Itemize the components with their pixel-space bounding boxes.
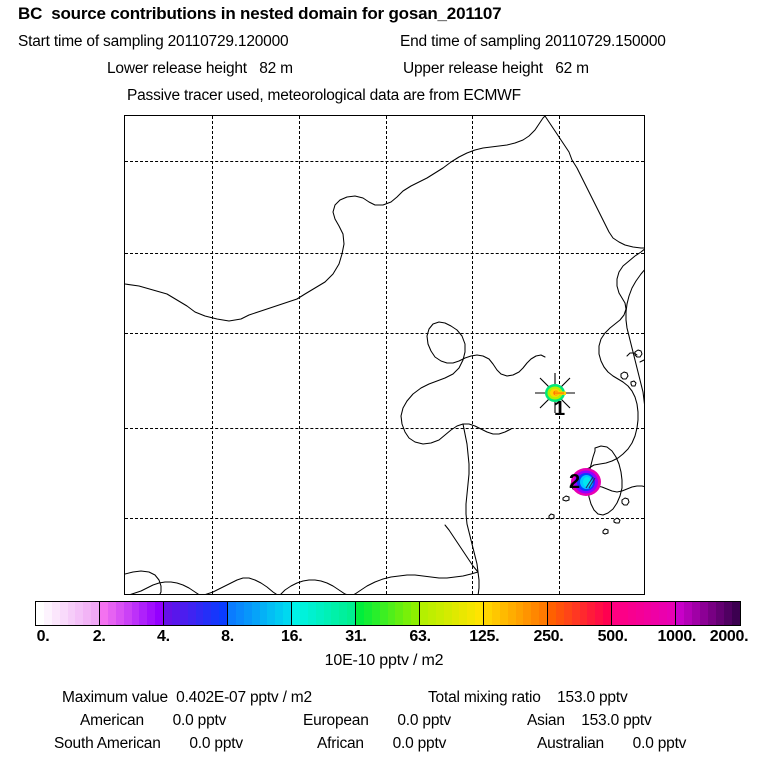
colorbar-step [603,602,611,625]
colorbar-step [531,602,539,625]
colorbar-step [180,602,188,625]
colorbar-tick-label: 2. [93,628,106,646]
colorbar-segment [228,602,292,625]
colorbar-segment [484,602,548,625]
colorbar-step [124,602,132,625]
upper-release-height-label: Upper release height 62 m [403,60,589,78]
colorbar-tick-label: 63. [409,628,430,646]
colorbar-step [452,602,460,625]
colorbar [35,601,741,626]
colorbar-step [428,602,436,625]
colorbar-step [395,602,403,625]
colorbar-segment [164,602,228,625]
colorbar-step [403,602,411,625]
colorbar-step [380,602,388,625]
colorbar-step [132,602,140,625]
colorbar-step [228,602,236,625]
colorbar-tick-label: 2000. [710,628,749,646]
colorbar-tick-label: 500. [598,628,628,646]
map-plot-area: 1 2 [124,115,645,595]
lower-release-height-label: Lower release height 82 m [107,60,293,78]
tracer-method-label: Passive tracer used, meteorological data… [127,87,521,105]
colorbar-tick-label: 250. [533,628,563,646]
colorbar-segment [292,602,356,625]
colorbar-step [636,602,644,625]
colorbar-step [52,602,60,625]
colorbar-step [275,602,283,625]
colorbar-step [436,602,444,625]
colorbar-step [324,602,332,625]
colorbar-step [716,602,724,625]
colorbar-step [700,602,708,625]
end-time-label: End time of sampling 20110729.150000 [400,33,666,51]
colorbar-step [211,602,219,625]
coastline-overlay [125,116,645,595]
colorbar-step [420,602,428,625]
colorbar-step [331,602,339,625]
colorbar-step [364,602,372,625]
colorbar-step [372,602,380,625]
colorbar-segment [36,602,100,625]
colorbar-step [356,602,364,625]
maximum-value-label: Maximum value 0.402E-07 pptv / m2 [62,689,312,707]
colorbar-step [388,602,396,625]
colorbar-step [116,602,124,625]
page-title: BC source contributions in nested domain… [18,4,501,24]
colorbar-step [572,602,580,625]
colorbar-step [548,602,556,625]
colorbar-step [523,602,531,625]
south-american-contribution: South American 0.0 pptv [54,735,243,753]
colorbar-step [724,602,732,625]
colorbar-step [75,602,83,625]
colorbar-step [411,602,419,625]
american-contribution: American 0.0 pptv [80,712,226,730]
colorbar-step [68,602,76,625]
colorbar-step [580,602,588,625]
flexpart-source-contribution-plot: BC source contributions in nested domain… [0,0,768,768]
colorbar-segment [676,602,740,625]
colorbar-step [155,602,163,625]
asian-contribution: Asian 153.0 pptv [527,712,652,730]
colorbar-step [147,602,155,625]
colorbar-step [252,602,260,625]
colorbar-step [659,602,667,625]
colorbar-tick-label: 0. [37,628,50,646]
colorbar-step [60,602,68,625]
plume-label-1: 1 [554,398,565,421]
colorbar-step [475,602,483,625]
colorbar-step [539,602,547,625]
colorbar-tick-label: 4. [157,628,170,646]
colorbar-step [300,602,308,625]
colorbar-step [267,602,275,625]
colorbar-step [628,602,636,625]
colorbar-step [108,602,116,625]
colorbar-step [484,602,492,625]
colorbar-segment [548,602,612,625]
colorbar-tick-label: 16. [281,628,302,646]
colorbar-step [44,602,52,625]
colorbar-step [308,602,316,625]
colorbar-step [83,602,91,625]
colorbar-tick-label: 125. [469,628,499,646]
colorbar-step [692,602,700,625]
colorbar-step [444,602,452,625]
colorbar-step [172,602,180,625]
colorbar-step [732,602,740,625]
colorbar-step [100,602,108,625]
colorbar-step [188,602,196,625]
colorbar-step [36,602,44,625]
colorbar-tick-label: 31. [345,628,366,646]
colorbar-step [244,602,252,625]
colorbar-step [651,602,659,625]
colorbar-step [556,602,564,625]
colorbar-segment [420,602,484,625]
colorbar-tick-label: 1000. [658,628,697,646]
colorbar-step [564,602,572,625]
colorbar-step [492,602,500,625]
colorbar-tick-labels: 0.2.4.8.16.31.63.125.250.500.1000.2000. [0,628,768,650]
plume-label-2: 2 [569,471,580,494]
colorbar-step [644,602,652,625]
start-time-label: Start time of sampling 20110729.120000 [18,33,288,51]
colorbar-step [467,602,475,625]
colorbar-step [684,602,692,625]
african-contribution: African 0.0 pptv [317,735,446,753]
colorbar-step [508,602,516,625]
colorbar-step [667,602,675,625]
colorbar-step [595,602,603,625]
colorbar-step [347,602,355,625]
colorbar-step [620,602,628,625]
colorbar-step [196,602,204,625]
total-mixing-ratio-label: Total mixing ratio 153.0 pptv [428,689,628,707]
australian-contribution: Australian 0.0 pptv [537,735,686,753]
colorbar-step [260,602,268,625]
colorbar-step [139,602,147,625]
colorbar-step [292,602,300,625]
colorbar-step [516,602,524,625]
colorbar-step [459,602,467,625]
colorbar-step [500,602,508,625]
colorbar-step [283,602,291,625]
colorbar-step [612,602,620,625]
colorbar-step [587,602,595,625]
colorbar-unit-label: 10E-10 pptv / m2 [0,652,768,670]
colorbar-step [316,602,324,625]
colorbar-step [676,602,684,625]
colorbar-step [219,602,227,625]
colorbar-segment [356,602,420,625]
colorbar-segment [612,602,676,625]
colorbar-step [203,602,211,625]
colorbar-step [91,602,99,625]
colorbar-step [164,602,172,625]
colorbar-tick-label: 8. [221,628,234,646]
colorbar-step [708,602,716,625]
european-contribution: European 0.0 pptv [303,712,451,730]
colorbar-segment [100,602,164,625]
colorbar-step [236,602,244,625]
colorbar-step [339,602,347,625]
